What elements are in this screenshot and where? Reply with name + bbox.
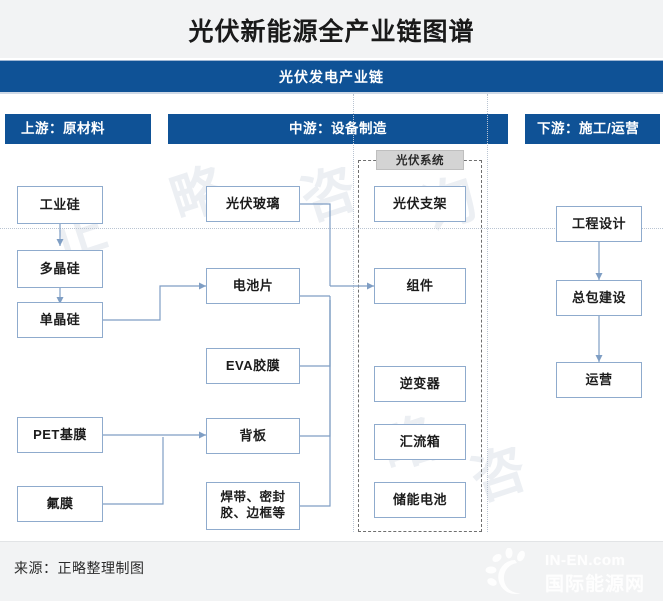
- stage-label-downstream: 下游：施工/运营: [525, 114, 660, 144]
- source-note: 来源：正略整理制图: [14, 558, 145, 578]
- wire-glass-to-bus: [300, 204, 330, 286]
- sun-logo-icon: [485, 548, 541, 596]
- wire-fluorine-to-backsheet: [103, 437, 163, 504]
- chain-bar: 光伏发电产业链: [0, 60, 663, 94]
- watermark: IN-EN.com 国际能源网: [479, 542, 659, 600]
- node-module[interactable]: 组件: [374, 268, 466, 304]
- wire-backsheet-to-bus: [300, 300, 330, 436]
- node-ribbon-sealant-frame[interactable]: 焊带、密封胶、边框等: [206, 482, 300, 530]
- node-epc-construction[interactable]: 总包建设: [556, 280, 642, 316]
- node-engineering-design[interactable]: 工程设计: [556, 206, 642, 242]
- node-pv-glass[interactable]: 光伏玻璃: [206, 186, 300, 222]
- stage-bar-upstream[interactable]: 上游：原材料: [5, 114, 151, 144]
- node-fluorine-film[interactable]: 氟膜: [17, 486, 103, 522]
- node-pv-bracket[interactable]: 光伏支架: [374, 186, 466, 222]
- stage-bar-midstream[interactable]: 中游：设备制造: [168, 114, 508, 144]
- node-polysilicon[interactable]: 多晶硅: [17, 250, 103, 288]
- group-label-pv-system: 光伏系统: [376, 150, 464, 170]
- wire-ribbon-to-bus: [300, 300, 330, 506]
- stage-label-midstream: 中游：设备制造: [168, 114, 508, 144]
- node-industrial-silicon[interactable]: 工业硅: [17, 186, 103, 224]
- stage-bar-downstream[interactable]: 下游：施工/运营: [525, 114, 660, 144]
- node-operation[interactable]: 运营: [556, 362, 642, 398]
- node-solar-cell[interactable]: 电池片: [206, 268, 300, 304]
- watermark-en-label: IN-EN.com: [545, 552, 625, 569]
- node-inverter[interactable]: 逆变器: [374, 366, 466, 402]
- node-eva-film[interactable]: EVA胶膜: [206, 348, 300, 384]
- node-pet-base-film[interactable]: PET基膜: [17, 417, 103, 453]
- node-monocrystalline-silicon[interactable]: 单晶硅: [17, 302, 103, 338]
- wire-eva-to-bus: [300, 296, 330, 366]
- guide-line-vertical-right: [487, 94, 488, 532]
- node-storage-battery[interactable]: 储能电池: [374, 482, 466, 518]
- stage-label-upstream: 上游：原材料: [5, 114, 151, 144]
- watermark-cn-label: 国际能源网: [545, 569, 645, 596]
- page-title: 光伏新能源全产业链图谱: [0, 12, 663, 48]
- diagram-canvas: 正 略 咨 询 略 咨 光伏新能源全产业链图谱 光伏发电产业链 上游：原材料 中…: [0, 0, 663, 601]
- guide-line-vertical-mid: [353, 94, 354, 532]
- node-combiner-box[interactable]: 汇流箱: [374, 424, 466, 460]
- node-backsheet[interactable]: 背板: [206, 418, 300, 454]
- wire-mono-to-cell: [103, 286, 206, 320]
- chain-bar-label: 光伏发电产业链: [0, 61, 663, 93]
